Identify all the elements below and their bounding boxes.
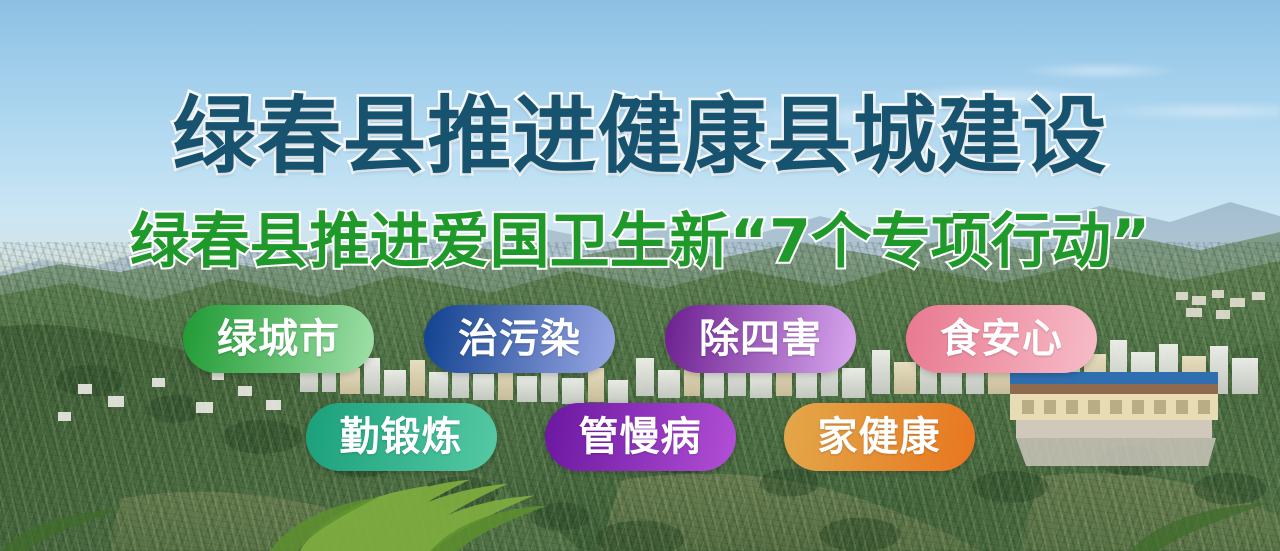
campaign-pill[interactable]: 治污染 (424, 305, 615, 373)
campaign-pill[interactable]: 绿城市 (183, 305, 374, 373)
campaign-pill[interactable]: 食安心 (906, 305, 1097, 373)
campaign-pill[interactable]: 家健康 (784, 403, 975, 471)
campaign-pill-row-1: 绿城市治污染除四害食安心 (0, 305, 1280, 373)
campaign-pill-group: 绿城市治污染除四害食安心 勤锻炼管慢病家健康 (0, 305, 1280, 471)
campaign-pill-row-2: 勤锻炼管慢病家健康 (0, 403, 1280, 471)
campaign-pill[interactable]: 管慢病 (545, 403, 736, 471)
campaign-pill[interactable]: 勤锻炼 (306, 403, 497, 471)
health-county-banner: 绿春县推进健康县城建设 绿春县推进爱国卫生新“7个专项行动” 绿城市治污染除四害… (0, 0, 1280, 551)
page-title: 绿春县推进健康县城建设 (0, 94, 1280, 178)
campaign-pill[interactable]: 除四害 (665, 305, 856, 373)
page-subtitle: 绿春县推进爱国卫生新“7个专项行动” (0, 212, 1280, 272)
